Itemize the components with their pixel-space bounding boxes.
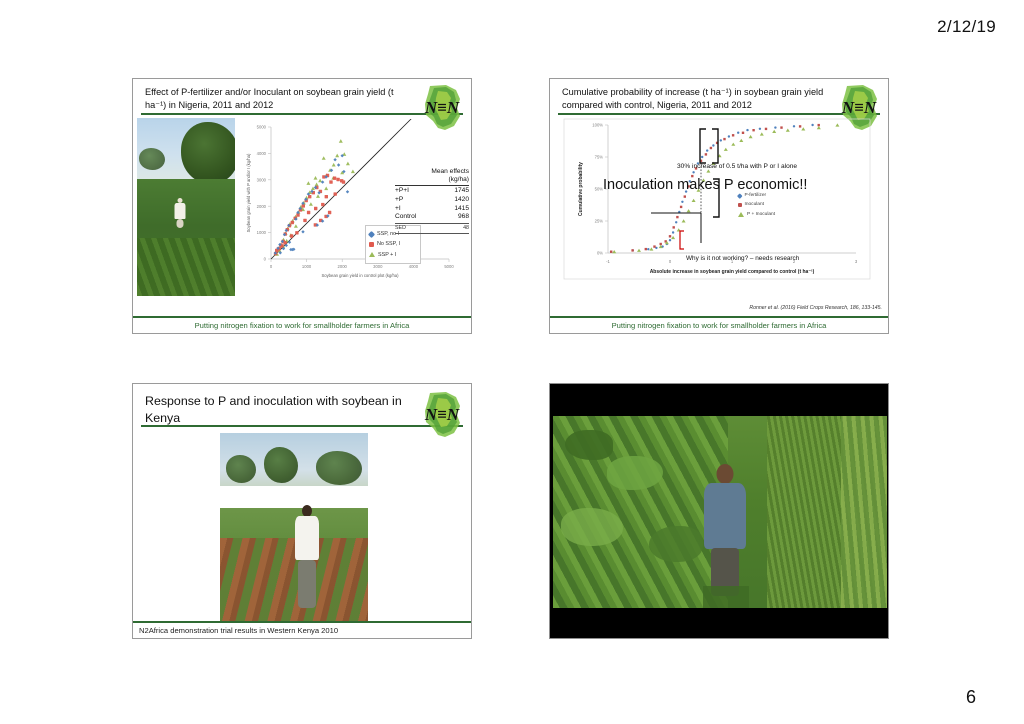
- table-row: Control 968: [395, 213, 469, 222]
- page-number: 6: [966, 687, 976, 708]
- row-value: 1420: [454, 196, 469, 205]
- svg-text:3000: 3000: [373, 264, 383, 269]
- sed-value: 48: [463, 225, 469, 232]
- mean-effects-table: Mean effects (kg/ha) +P+I 1745 +P 1420 +…: [395, 168, 469, 235]
- svg-text:N≡N: N≡N: [424, 405, 460, 424]
- svg-text:N≡N: N≡N: [424, 98, 460, 117]
- svg-text:0: 0: [669, 259, 672, 264]
- legend-item: P + Inoculant: [738, 210, 775, 219]
- annotation-headline: Inoculation makes P economic!!: [603, 177, 807, 193]
- svg-text:2000: 2000: [257, 204, 267, 209]
- svg-text:75%: 75%: [595, 155, 604, 160]
- slide-3[interactable]: Response to P and inoculation with soybe…: [132, 383, 472, 639]
- svg-text:3: 3: [855, 259, 858, 264]
- row-label: Control: [395, 213, 416, 222]
- table-row: +P+I 1745: [395, 187, 469, 196]
- slide-3-farmer-photo: [220, 433, 368, 621]
- slide-4[interactable]: [549, 383, 889, 639]
- slide-4-video-frame: [553, 416, 887, 608]
- slide-2-legend: P-fertilizer Inoculant P + Inoculant: [738, 191, 775, 219]
- svg-text:5000: 5000: [444, 264, 454, 269]
- footer-text: Putting nitrogen fixation to work for sm…: [612, 321, 827, 330]
- letterbox-bottom: [550, 606, 888, 638]
- footer-text: Putting nitrogen fixation to work for sm…: [195, 321, 410, 330]
- table-row: +P 1420: [395, 196, 469, 205]
- slide-1-field-photo: [137, 118, 235, 296]
- sed-row: SED 48: [395, 225, 469, 232]
- table-row: +I 1415: [395, 205, 469, 214]
- slide-2[interactable]: Cumulative probability of increase (t ha…: [549, 78, 889, 334]
- svg-text:-1: -1: [606, 259, 610, 264]
- legend-label: SSP + I: [378, 250, 396, 260]
- square-marker-icon: [369, 242, 374, 247]
- slide-2-footer: Putting nitrogen fixation to work for sm…: [550, 316, 888, 333]
- title-rule: [558, 113, 880, 115]
- row-value: 1415: [454, 205, 469, 214]
- row-label: +P: [395, 196, 403, 205]
- slide-1-footer: Putting nitrogen fixation to work for sm…: [133, 316, 471, 333]
- diamond-marker-icon: [368, 231, 375, 238]
- svg-text:100%: 100%: [592, 123, 603, 128]
- legend-label: P-fertilizer: [745, 191, 767, 200]
- svg-text:0: 0: [264, 257, 267, 262]
- row-value: 1745: [454, 187, 469, 196]
- svg-text:0%: 0%: [597, 251, 603, 256]
- table-rule: [395, 233, 469, 234]
- mean-effects-header-2: (kg/ha): [395, 176, 469, 184]
- svg-text:Cumulative probability: Cumulative probability: [578, 162, 584, 216]
- svg-text:4000: 4000: [257, 151, 267, 156]
- mean-effects-header-1: Mean effects: [395, 168, 469, 176]
- svg-text:Soybean grain yield with P and: Soybean grain yield with P and/or I (kg/…: [246, 153, 251, 232]
- svg-text:25%: 25%: [595, 219, 604, 224]
- title-rule: [141, 113, 463, 115]
- svg-text:50%: 50%: [595, 187, 604, 192]
- svg-text:5000: 5000: [257, 125, 267, 130]
- footer-text: N2Africa demonstration trial results in …: [139, 626, 338, 635]
- legend-item: Inoculant: [738, 200, 775, 209]
- n2africa-logo: N≡N: [416, 390, 468, 440]
- svg-text:0: 0: [270, 264, 273, 269]
- table-rule: [395, 223, 469, 224]
- document-date: 2/12/19: [937, 17, 996, 37]
- square-marker-icon: [738, 203, 742, 207]
- row-label: +I: [395, 205, 401, 214]
- legend-label: No SSP, I: [377, 239, 400, 249]
- slide-1[interactable]: Effect of P-fertilizer and/or Inoculant …: [132, 78, 472, 334]
- svg-text:1000: 1000: [257, 230, 267, 235]
- legend-label: P + Inoculant: [747, 210, 775, 219]
- svg-text:N≡N: N≡N: [841, 98, 877, 117]
- svg-text:Absolute increase in soybean g: Absolute increase in soybean grain yield…: [650, 269, 815, 275]
- slide-3-footer: N2Africa demonstration trial results in …: [133, 621, 471, 638]
- row-label: +P+I: [395, 187, 409, 196]
- title-rule: [141, 425, 463, 427]
- letterbox-top: [550, 384, 888, 416]
- annotation-top-note: 30% increase of 0.5 t/ha with P or I alo…: [677, 163, 797, 170]
- legend-item: P-fertilizer: [738, 191, 775, 200]
- handout-page: 2/12/19 Effect of P-fertilizer and/or In…: [0, 0, 1024, 724]
- table-rule: [395, 185, 469, 186]
- diamond-marker-icon: [737, 193, 742, 198]
- triangle-marker-icon: [738, 212, 744, 217]
- legend-label: Inoculant: [745, 200, 764, 209]
- sed-label: SED: [395, 225, 406, 232]
- svg-text:1000: 1000: [302, 264, 312, 269]
- citation: Ronner et al. (2016) Field Crops Researc…: [749, 305, 882, 311]
- row-value: 968: [458, 213, 469, 222]
- svg-text:2000: 2000: [338, 264, 348, 269]
- svg-text:3000: 3000: [257, 177, 267, 182]
- svg-text:Soybean grain yield in control: Soybean grain yield in control plot (kg/…: [321, 273, 399, 278]
- legend-item: No SSP, I: [369, 239, 415, 249]
- svg-text:4000: 4000: [409, 264, 419, 269]
- legend-item: SSP + I: [369, 250, 415, 260]
- annotation-bottom-note: Why is it not working? – needs research: [686, 255, 799, 262]
- triangle-marker-icon: [369, 252, 375, 257]
- slide-2-cumulative-probability-chart: 0% 25% 50% 75% 100% -1 0 1 2 3: [556, 117, 876, 297]
